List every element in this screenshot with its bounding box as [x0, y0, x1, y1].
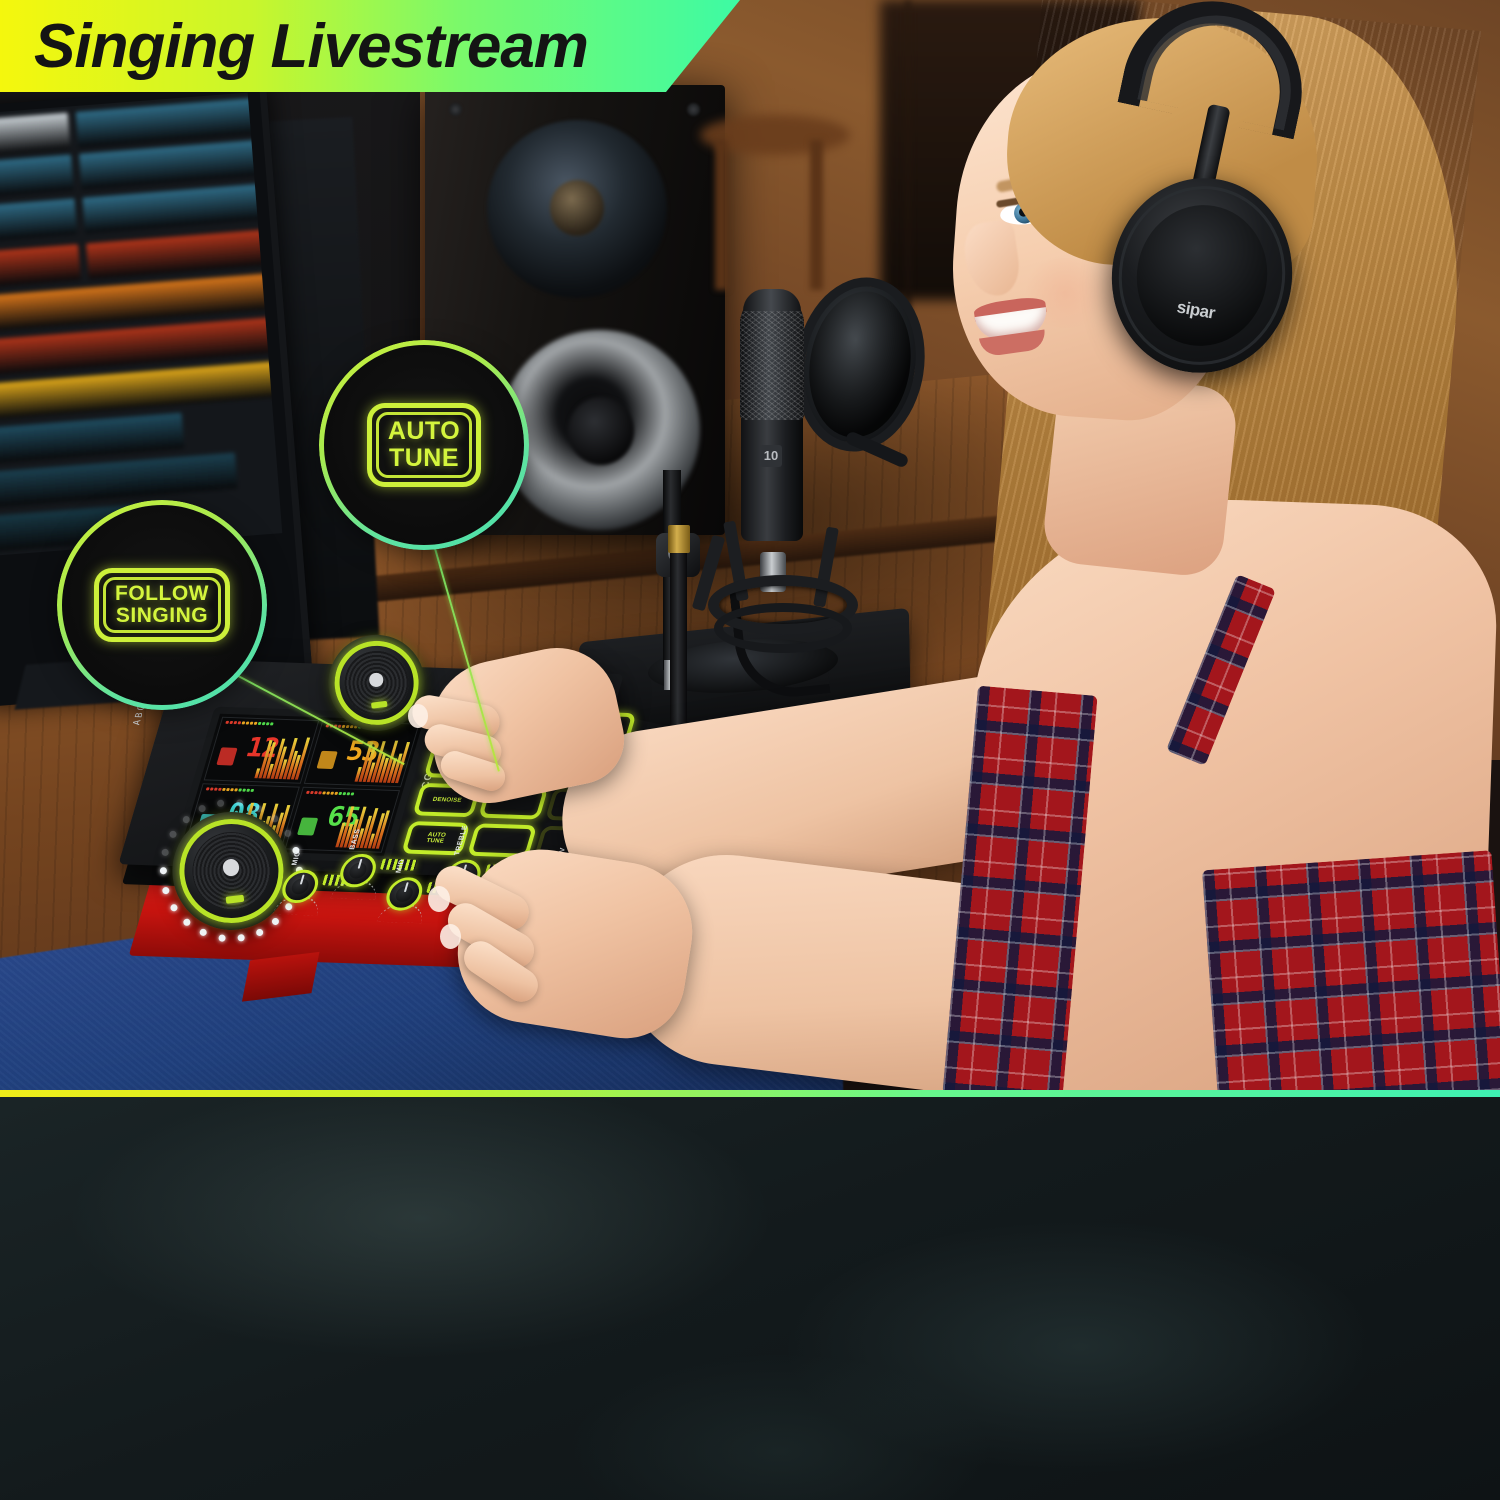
daw-timeline	[0, 92, 282, 556]
jog-led	[236, 799, 244, 807]
callout-follow-singing-line1: FOLLOW	[115, 583, 209, 605]
jog-led	[170, 904, 178, 912]
daw-clip	[0, 244, 81, 289]
callout-auto-tune[interactable]: AUTO TUNE	[324, 345, 524, 545]
studio-photo: 10 ABC C B D B E F E G A CG MIXER 125308…	[0, 0, 1500, 1096]
lcd-level-dots	[206, 787, 254, 792]
jog-led	[162, 848, 170, 856]
mixer-foot	[242, 952, 320, 1002]
daw-clip	[0, 154, 74, 199]
speaker-screw	[449, 103, 462, 116]
mic-grille	[740, 295, 804, 420]
page-title: Singing Livestream	[34, 11, 588, 82]
lcd-quadrant: 12	[204, 717, 320, 783]
mixer-knob[interactable]	[382, 877, 426, 911]
lcd-icon	[216, 747, 237, 765]
callout-auto-tune-line1: AUTO	[388, 418, 460, 445]
product-feature-image: 10 ABC C B D B E F E G A CG MIXER 125308…	[0, 0, 1500, 1500]
plaid-bodice	[1202, 850, 1500, 1096]
callout-follow-singing-plate: FOLLOW SINGING	[94, 568, 230, 643]
daw-clip	[0, 113, 70, 156]
mic-logo: 10	[760, 445, 782, 467]
jog-led	[170, 830, 178, 838]
callout-follow-singing-line2: SINGING	[115, 605, 209, 627]
daw-clip	[0, 453, 238, 509]
jog-led	[162, 886, 170, 894]
daw-clip	[82, 182, 282, 234]
lcd-level-dots	[306, 790, 354, 795]
lcd-quadrant: 53	[304, 720, 420, 786]
mixer-knob[interactable]	[336, 853, 380, 887]
daw-clip	[86, 228, 282, 280]
callout-follow-singing[interactable]: FOLLOW SINGING	[62, 505, 262, 705]
jog-led	[271, 815, 279, 823]
daw-clip	[0, 413, 184, 465]
jog-led	[198, 805, 206, 813]
jog-led	[218, 934, 226, 942]
fingernail	[440, 924, 461, 949]
daw-clip	[79, 138, 281, 190]
jog-led	[183, 918, 191, 926]
speaker-tweeter-dome	[550, 180, 604, 236]
title-banner: Singing Livestream	[0, 0, 740, 92]
jog-led	[217, 799, 225, 807]
lcd-level-dots	[225, 721, 273, 726]
callout-auto-tune-plate: AUTO TUNE	[367, 403, 481, 487]
streamer-person: sipar	[900, 0, 1500, 1096]
jog-led	[182, 816, 190, 824]
daw-clip	[0, 198, 77, 243]
speaker-screw	[687, 103, 700, 116]
knob-label: MIC	[291, 851, 302, 865]
section-divider	[0, 1090, 1500, 1097]
lcd-icon	[316, 751, 337, 769]
fingernail	[428, 886, 450, 912]
shock-mount-ring-inner	[714, 603, 852, 653]
mixer-button-label: DENOISE	[432, 796, 463, 803]
jog-led	[255, 805, 263, 813]
fingernail	[408, 704, 428, 728]
feature-explanation-panel: Follow Singing: the streamer can continu…	[0, 1097, 1500, 1500]
shock-mount	[700, 507, 865, 657]
knob-label: BASS	[349, 829, 362, 850]
callout-auto-tune-line2: TUNE	[388, 445, 460, 472]
mic-stand-gold-ring	[668, 525, 690, 553]
speaker-woofer-dome	[568, 397, 634, 465]
mic-cap	[743, 289, 801, 311]
